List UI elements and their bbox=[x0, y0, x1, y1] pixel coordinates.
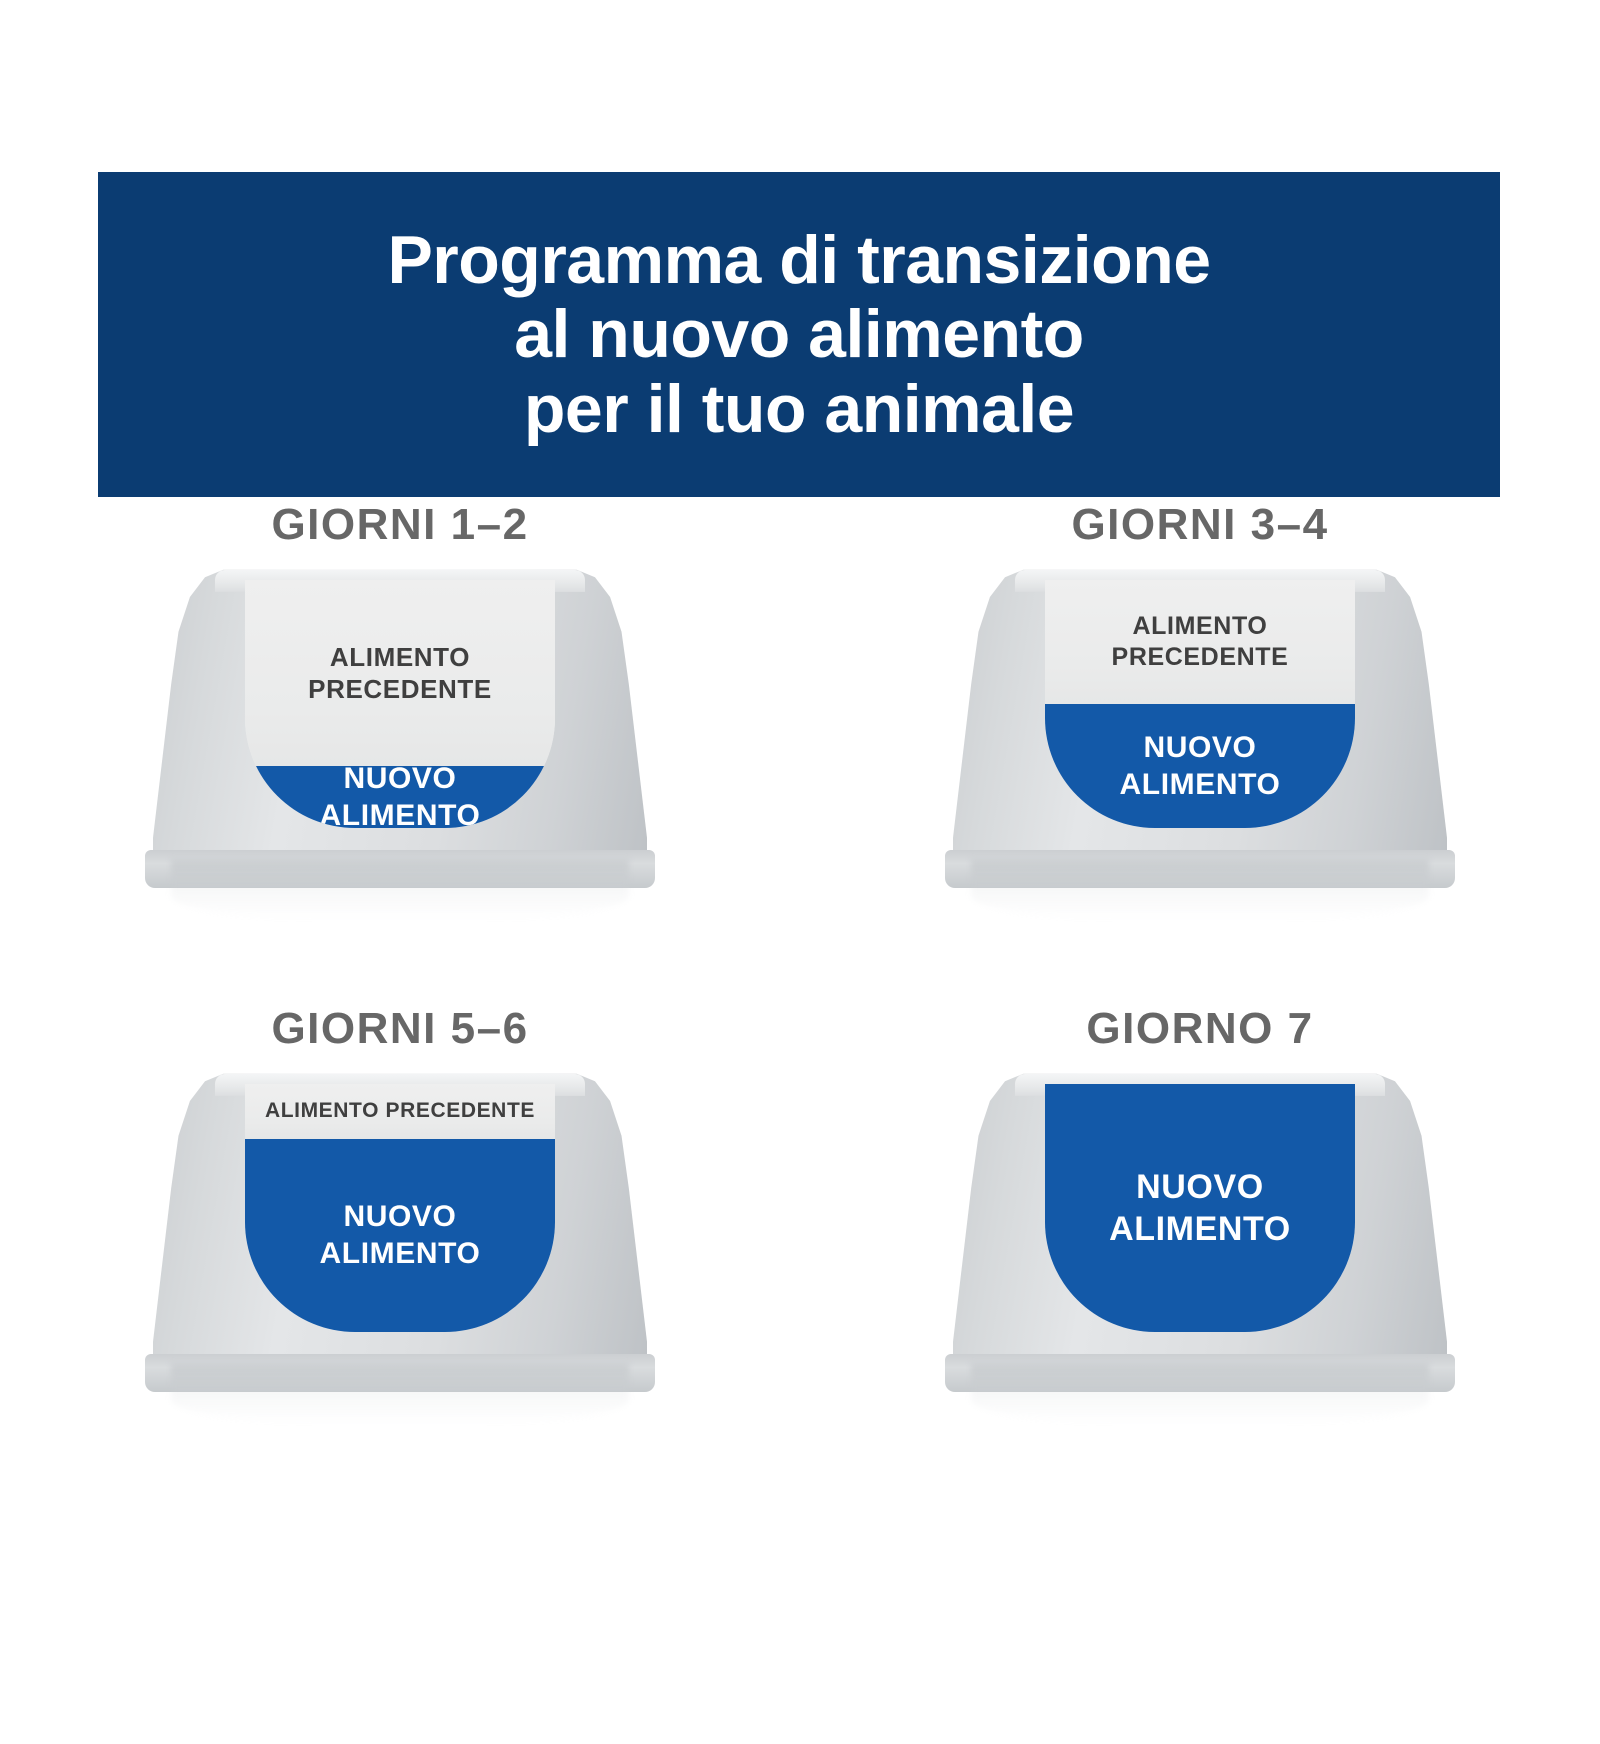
step-1-day-label: GIORNI 1–2 bbox=[271, 500, 528, 550]
step-4-day-label: GIORNO 7 bbox=[1086, 1004, 1313, 1054]
bowl-4-food-area: NUOVO ALIMENTO bbox=[1045, 1084, 1355, 1332]
transition-step-1: GIORNI 1–2 ALIMENTO PRECEDENTE NUOVO ALI… bbox=[0, 500, 800, 970]
bowl-2-food-area: ALIMENTO PRECEDENTE NUOVO ALIMENTO bbox=[1045, 580, 1355, 828]
bowl-2-shadow bbox=[971, 860, 1429, 920]
bowl-3-new-food-label: NUOVO ALIMENTO bbox=[314, 1198, 487, 1273]
bowl-2-old-food: ALIMENTO PRECEDENTE bbox=[1045, 580, 1355, 704]
bowl-1-old-food-label: ALIMENTO PRECEDENTE bbox=[302, 641, 498, 706]
transition-step-3: GIORNI 5–6 ALIMENTO PRECEDENTE NUOVO ALI… bbox=[0, 1004, 800, 1474]
step-3-day-label: GIORNI 5–6 bbox=[271, 1004, 528, 1054]
bowl-2-old-food-label: ALIMENTO PRECEDENTE bbox=[1106, 611, 1295, 674]
bowl-1-shadow bbox=[171, 860, 629, 920]
bowl-4-new-food: NUOVO ALIMENTO bbox=[1045, 1084, 1355, 1332]
bowl-3-old-food: ALIMENTO PRECEDENTE bbox=[245, 1084, 555, 1139]
bowl-1-new-food-label: NUOVO ALIMENTO bbox=[314, 760, 487, 829]
transition-steps-grid: GIORNI 1–2 ALIMENTO PRECEDENTE NUOVO ALI… bbox=[0, 500, 1600, 1474]
bowl-2-new-food: NUOVO ALIMENTO bbox=[1045, 704, 1355, 828]
bowl-4-new-food-label: NUOVO ALIMENTO bbox=[1103, 1166, 1297, 1251]
header-banner: Programma di transizione al nuovo alimen… bbox=[98, 172, 1500, 497]
bowl-3-food-area: ALIMENTO PRECEDENTE NUOVO ALIMENTO bbox=[245, 1084, 555, 1332]
bowl-3-shadow bbox=[171, 1364, 629, 1424]
bowl-2-new-food-label: NUOVO ALIMENTO bbox=[1114, 729, 1287, 804]
bowl-1-food-area: ALIMENTO PRECEDENTE NUOVO ALIMENTO bbox=[245, 580, 555, 828]
transition-step-2: GIORNI 3–4 ALIMENTO PRECEDENTE NUOVO ALI… bbox=[800, 500, 1600, 970]
bowl-4: NUOVO ALIMENTO bbox=[940, 1072, 1460, 1392]
bowl-3-old-food-label: ALIMENTO PRECEDENTE bbox=[259, 1098, 541, 1124]
step-2-day-label: GIORNI 3–4 bbox=[1071, 500, 1328, 550]
bowl-1-old-food: ALIMENTO PRECEDENTE bbox=[245, 580, 555, 766]
bowl-1-new-food: NUOVO ALIMENTO bbox=[245, 766, 555, 828]
bowl-1: ALIMENTO PRECEDENTE NUOVO ALIMENTO bbox=[140, 568, 660, 888]
bowl-2: ALIMENTO PRECEDENTE NUOVO ALIMENTO bbox=[940, 568, 1460, 888]
bowl-3-new-food: NUOVO ALIMENTO bbox=[245, 1139, 555, 1332]
transition-step-4: GIORNO 7 NUOVO ALIMENTO bbox=[800, 1004, 1600, 1474]
page-title: Programma di transizione al nuovo alimen… bbox=[367, 223, 1230, 445]
bowl-3: ALIMENTO PRECEDENTE NUOVO ALIMENTO bbox=[140, 1072, 660, 1392]
bowl-4-shadow bbox=[971, 1364, 1429, 1424]
